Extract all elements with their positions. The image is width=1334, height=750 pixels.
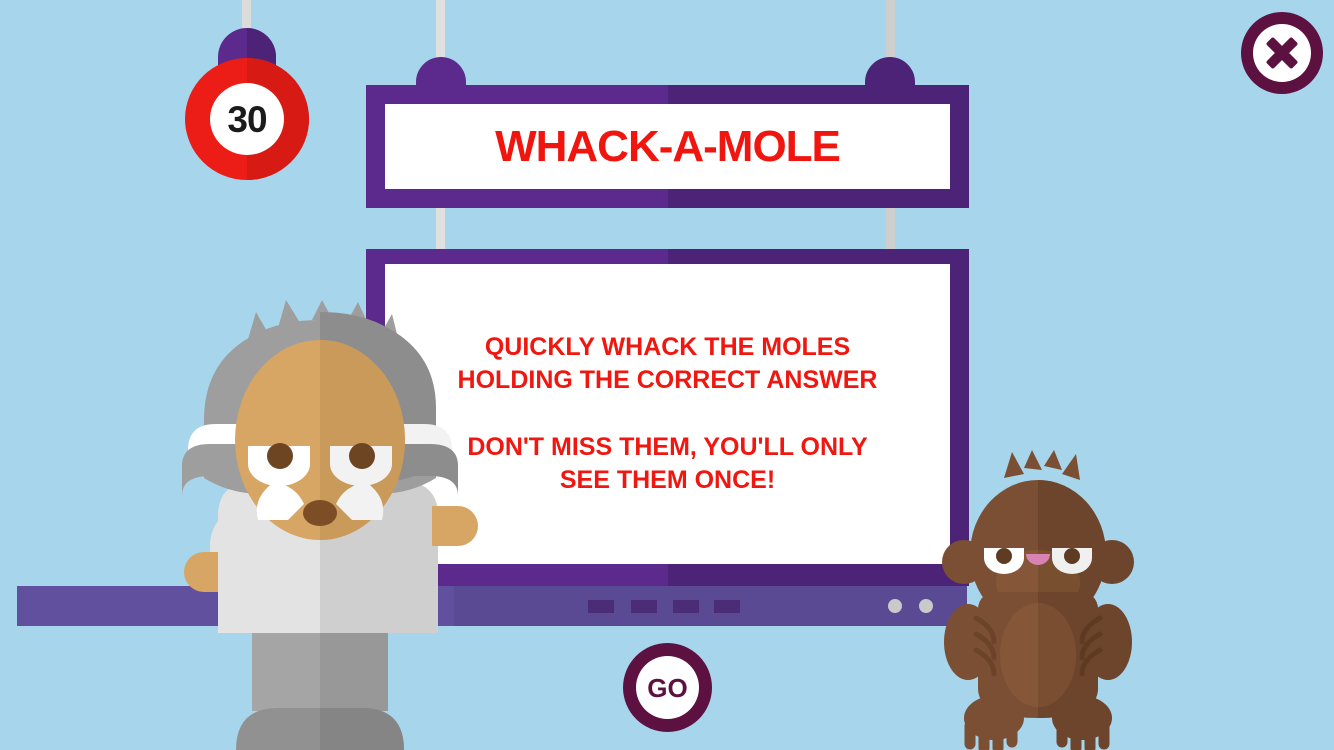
instruction-line-2: HOLDING THE CORRECT ANSWER [458, 364, 878, 397]
professor-character [160, 300, 480, 750]
timer-value: 30 [227, 101, 266, 138]
tray-dash [631, 600, 657, 613]
instruction-line-3: DON'T MISS THEM, YOU'LL ONLY [467, 431, 867, 464]
game-screen: 30 WHACK-A-MOLE QUICKLY WHACK THE MOLES … [0, 0, 1334, 750]
start-button-inner: GO [636, 656, 699, 719]
tray-dot [919, 599, 933, 613]
title-board-panel: WHACK-A-MOLE [385, 104, 950, 189]
close-button[interactable] [1241, 12, 1323, 94]
mole-character [940, 450, 1140, 750]
sign-inner-circle: 30 [210, 83, 284, 155]
page-title: WHACK-A-MOLE [495, 125, 840, 169]
tray-dash [673, 600, 699, 613]
mole-illustration [940, 450, 1140, 750]
timer-sign: 30 [185, 28, 310, 180]
start-button[interactable]: GO [623, 643, 712, 732]
tray-dash [588, 600, 614, 613]
start-button-label: GO [647, 675, 687, 701]
tray-dot [888, 599, 902, 613]
instruction-line-4: SEE THEM ONCE! [560, 464, 775, 497]
professor-illustration [160, 300, 480, 750]
close-x-icon [1253, 24, 1311, 82]
instruction-line-1: QUICKLY WHACK THE MOLES [485, 331, 850, 364]
title-knob-right-icon [865, 57, 915, 86]
title-board: WHACK-A-MOLE [366, 85, 969, 208]
title-knob-left-icon [416, 57, 466, 86]
tray-dash [714, 600, 740, 613]
